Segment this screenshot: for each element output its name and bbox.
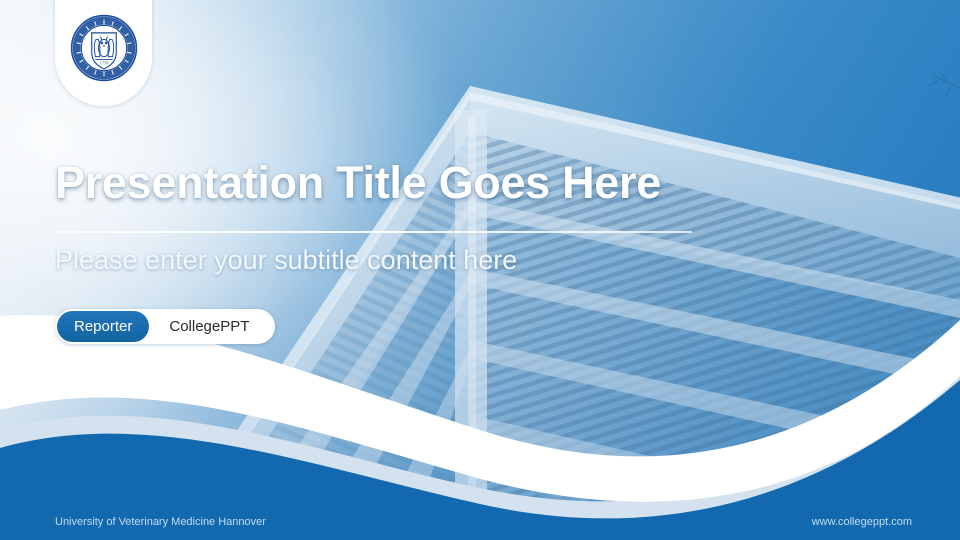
presentation-slide: 1778 Presentation Title Goes Here Please… (0, 0, 960, 540)
presenter-name: CollegePPT (151, 318, 271, 335)
page-subtitle: Please enter your subtitle content here (55, 245, 517, 276)
university-seal-logo: 1778 (68, 12, 140, 84)
footer-institution: University of Veterinary Medicine Hannov… (55, 516, 266, 528)
svg-text:1778: 1778 (99, 61, 108, 66)
presenter-pill: Reporter CollegePPT (55, 309, 275, 344)
page-title: Presentation Title Goes Here (55, 157, 661, 209)
logo-tab: 1778 (55, 0, 152, 106)
reporter-badge: Reporter (57, 311, 149, 342)
title-divider (55, 231, 692, 233)
footer-website[interactable]: www.collegeppt.com (812, 516, 912, 528)
